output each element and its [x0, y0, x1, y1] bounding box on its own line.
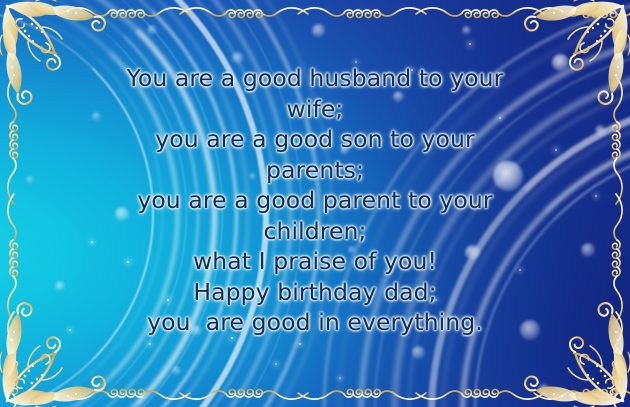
bokeh-circle [462, 26, 471, 35]
message-line: you are a good parent to your [0, 185, 630, 216]
greeting-card: You are a good husband to yourwife;you a… [0, 0, 630, 407]
sparkle-dot [275, 363, 277, 365]
sparkle-dot [339, 377, 341, 379]
message-line: children; [0, 216, 630, 247]
message-line: you are good in everything. [0, 307, 630, 338]
birthday-message: You are a good husband to yourwife;you a… [0, 63, 630, 338]
message-line: Happy birthday dad; [0, 277, 630, 308]
message-line: what I praise of you! [0, 246, 630, 277]
message-line: you are a good son to your [0, 124, 630, 155]
bokeh-circle [147, 25, 157, 35]
bokeh-circle [312, 24, 325, 37]
message-line: You are a good husband to your [0, 63, 630, 94]
message-line: parents; [0, 155, 630, 186]
sparkle-dot [469, 43, 471, 45]
sparkle-dot [149, 343, 151, 345]
sparkle-dot [299, 343, 301, 345]
bokeh-circle [412, 346, 425, 359]
bokeh-circle [172, 366, 181, 375]
bokeh-circle [538, 384, 550, 396]
message-line: wife; [0, 94, 630, 125]
